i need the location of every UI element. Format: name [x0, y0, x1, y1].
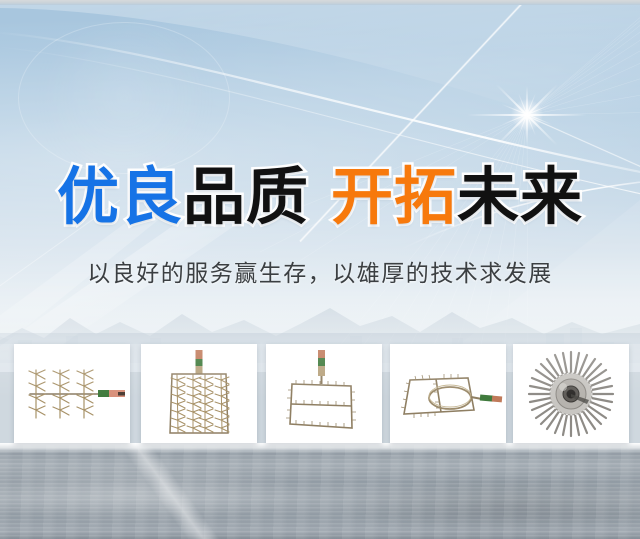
product-card[interactable] — [513, 344, 629, 443]
promotional-banner: 优良品质开拓未来 以良好的服务赢生存，以雄厚的技术求发展 — [0, 0, 640, 539]
subtitle-container: 以良好的服务赢生存，以雄厚的技术求发展 — [0, 258, 640, 292]
headline-segment-1: 优良 — [57, 160, 183, 234]
product-card-row — [0, 344, 640, 444]
headline-segment-3: 开拓 — [331, 160, 457, 234]
product-card[interactable] — [141, 344, 257, 443]
two-panel-frame-tool-icon — [266, 344, 382, 443]
product-card[interactable] — [390, 344, 506, 443]
comb-rake-tool-icon — [14, 344, 130, 443]
product-card[interactable] — [14, 344, 130, 443]
ground-surface — [0, 443, 640, 539]
headline: 优良品质开拓未来 — [57, 160, 583, 234]
multi-row-rake-tool-icon — [141, 344, 257, 443]
headline-segment-4: 未来 — [457, 160, 583, 234]
headline-container: 优良品质开拓未来 — [0, 160, 640, 246]
top-edge-strip — [0, 0, 640, 5]
ring-frame-tool-icon — [390, 344, 506, 443]
product-card[interactable] — [266, 344, 382, 443]
headline-segment-2: 品质 — [183, 160, 309, 234]
subtitle: 以良好的服务赢生存，以雄厚的技术求发展 — [87, 258, 553, 290]
radial-spike-wheel-icon — [513, 344, 629, 443]
ground-texture — [0, 443, 640, 539]
